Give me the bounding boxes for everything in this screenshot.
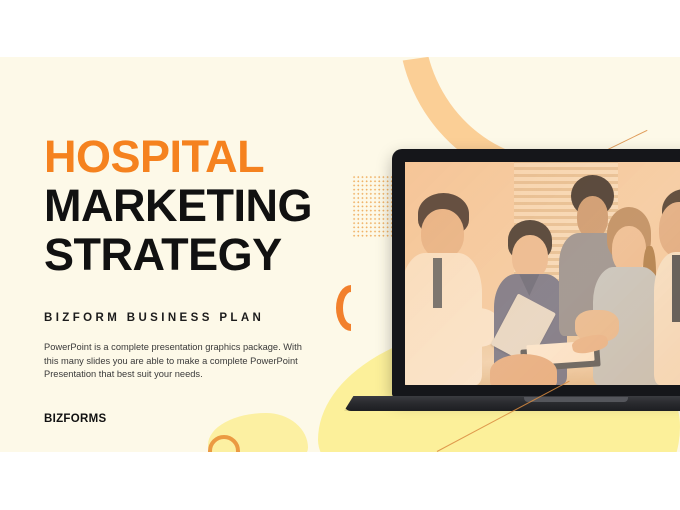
laptop-base (344, 396, 680, 411)
page-title-line-1: HOSPITAL (44, 132, 334, 181)
photo-light-overlay (405, 162, 680, 385)
page-title-line-3: STRATEGY (44, 230, 334, 279)
title-text-block: HOSPITAL MARKETING STRATEGY BIZFORM BUSI… (44, 132, 334, 425)
down-half-ring-icon (597, 450, 627, 452)
laptop-notch (524, 397, 628, 402)
laptop-lid (392, 149, 680, 397)
subtitle: BIZFORM BUSINESS PLAN (44, 312, 334, 324)
page-title-line-2: MARKETING (44, 181, 334, 230)
open-c-arc-icon (336, 285, 366, 331)
medical-team-photo (405, 162, 680, 385)
body-text: PowerPoint is a complete presentation gr… (44, 341, 312, 382)
brand-label: BIZFORMS (44, 413, 334, 425)
laptop-mockup (392, 149, 680, 424)
slide-canvas: HOSPITAL MARKETING STRATEGY BIZFORM BUSI… (0, 57, 680, 452)
orange-ring-shape (208, 435, 240, 452)
laptop-screen (405, 162, 680, 385)
